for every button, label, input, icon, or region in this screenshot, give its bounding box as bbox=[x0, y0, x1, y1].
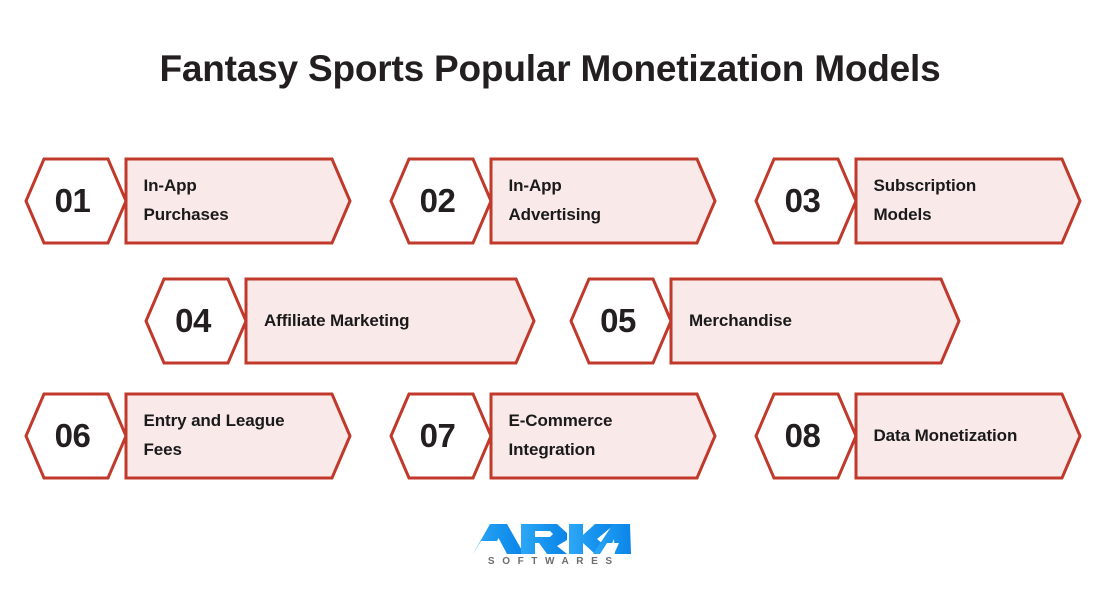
item-label-line: Affiliate Marketing bbox=[264, 307, 517, 336]
item-number: 06 bbox=[20, 392, 126, 480]
monetization-item: 03 Subscription Models bbox=[750, 157, 1081, 245]
monetization-item: 06 Entry and League Fees bbox=[20, 392, 351, 480]
logo-tagline: SOFTWARES bbox=[480, 556, 619, 567]
monetization-item: 02 In-App Advertising bbox=[385, 157, 716, 245]
item-label-line: Merchandise bbox=[689, 307, 942, 336]
item-label-line: In-App bbox=[509, 172, 698, 201]
item-label: In-App Purchases bbox=[126, 157, 333, 245]
infographic-canvas: Fantasy Sports Popular Monetization Mode… bbox=[0, 0, 1100, 610]
item-label-line: Integration bbox=[509, 436, 698, 465]
page-title: Fantasy Sports Popular Monetization Mode… bbox=[0, 48, 1100, 90]
item-row-2: 04 Affiliate Marketing 05 Merchandise bbox=[0, 277, 1100, 365]
item-label-line: Fees bbox=[144, 436, 333, 465]
item-label-line: Data Monetization bbox=[874, 422, 1063, 451]
item-row-3: 06 Entry and League Fees 07 E-Commerce I… bbox=[0, 392, 1100, 480]
item-row-1: 01 In-App Purchases 02 In-App Advertisin… bbox=[0, 157, 1100, 245]
item-number: 07 bbox=[385, 392, 491, 480]
item-label-line: E-Commerce bbox=[509, 407, 698, 436]
item-label-line: In-App bbox=[144, 172, 333, 201]
arka-wordmark-icon bbox=[469, 524, 631, 554]
item-number: 04 bbox=[140, 277, 246, 365]
item-label-line: Subscription bbox=[874, 172, 1063, 201]
item-label: Entry and League Fees bbox=[126, 392, 333, 480]
monetization-item: 05 Merchandise bbox=[565, 277, 960, 365]
item-number: 08 bbox=[750, 392, 856, 480]
item-label: Merchandise bbox=[671, 277, 942, 365]
item-label: Subscription Models bbox=[856, 157, 1063, 245]
item-label-line: Entry and League bbox=[144, 407, 333, 436]
item-label: E-Commerce Integration bbox=[491, 392, 698, 480]
item-label: Affiliate Marketing bbox=[246, 277, 517, 365]
monetization-item: 04 Affiliate Marketing bbox=[140, 277, 535, 365]
monetization-item: 01 In-App Purchases bbox=[20, 157, 351, 245]
monetization-item: 07 E-Commerce Integration bbox=[385, 392, 716, 480]
item-number: 01 bbox=[20, 157, 126, 245]
monetization-item: 08 Data Monetization bbox=[750, 392, 1081, 480]
item-number: 02 bbox=[385, 157, 491, 245]
item-number: 03 bbox=[750, 157, 856, 245]
item-label: In-App Advertising bbox=[491, 157, 698, 245]
item-label-line: Purchases bbox=[144, 201, 333, 230]
brand-logo: SOFTWARES bbox=[0, 524, 1100, 567]
item-label-line: Models bbox=[874, 201, 1063, 230]
item-label: Data Monetization bbox=[856, 392, 1063, 480]
item-label-line: Advertising bbox=[509, 201, 698, 230]
item-number: 05 bbox=[565, 277, 671, 365]
